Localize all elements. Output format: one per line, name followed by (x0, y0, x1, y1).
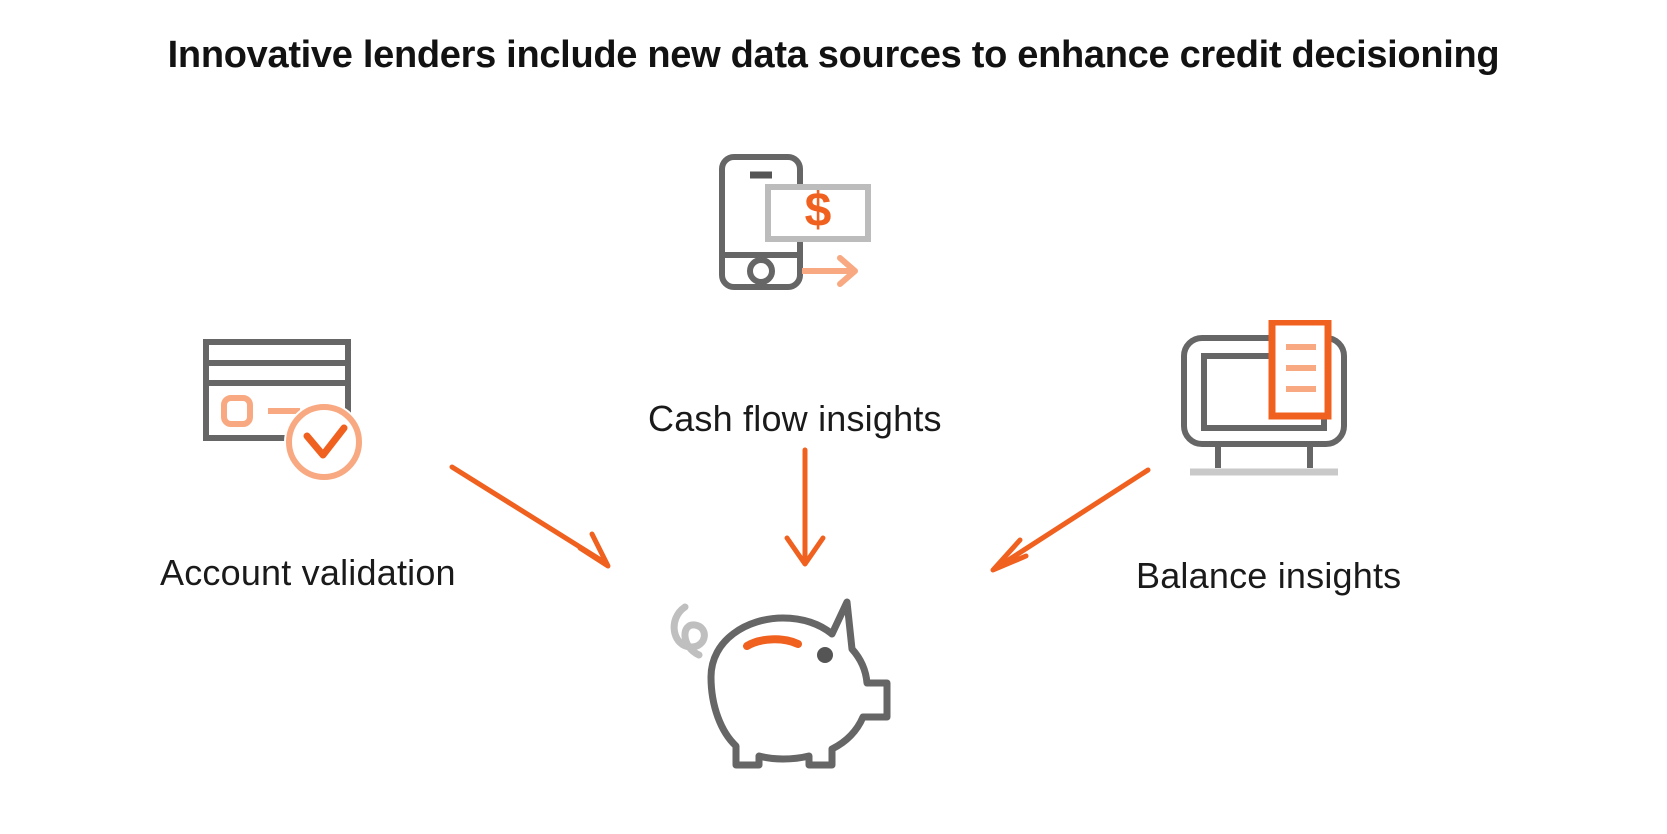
node-label-account-validation: Account validation (160, 552, 456, 594)
arrow-account-validation-to-piggy (452, 467, 608, 566)
piggy-bank-icon (655, 585, 905, 775)
node-label-cash-flow-insights: Cash flow insights (648, 398, 942, 440)
diagram-canvas: Innovative lenders include new data sour… (0, 0, 1667, 834)
mobile-payment-icon: $ (716, 152, 876, 307)
arrow-cash-flow-to-piggy (787, 450, 823, 564)
credit-card-check-icon (196, 330, 386, 495)
monitor-statement-icon (1176, 320, 1356, 485)
svg-text:$: $ (805, 184, 832, 237)
node-label-balance-insights: Balance insights (1136, 555, 1401, 597)
arrow-balance-insights-to-piggy (993, 470, 1148, 570)
page-title: Innovative lenders include new data sour… (0, 34, 1667, 77)
